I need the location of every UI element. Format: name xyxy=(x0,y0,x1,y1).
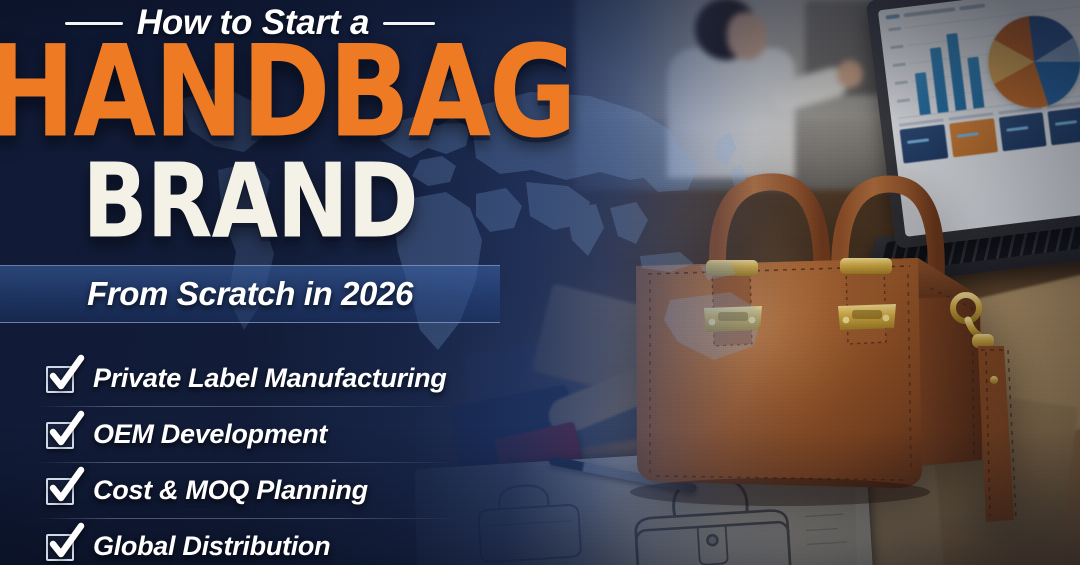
checklist-item: Global Distribution xyxy=(46,518,476,565)
checkbox-checked-icon xyxy=(46,364,76,393)
subtitle-text: From Scratch in 2026 xyxy=(87,275,413,313)
checklist-item-label: Global Distribution xyxy=(93,531,330,562)
checklist-item: OEM Development xyxy=(46,406,476,462)
headline-secondary: BRAND xyxy=(0,157,505,245)
checkbox-checked-icon xyxy=(46,532,76,561)
subtitle-band: From Scratch in 2026 xyxy=(0,265,500,323)
checklist-item-label: OEM Development xyxy=(93,419,327,450)
poster-content: How to Start a HANDBAG BRAND From Scratc… xyxy=(0,0,1080,565)
checklist-item: Private Label Manufacturing xyxy=(46,350,476,406)
checkbox-checked-icon xyxy=(46,420,76,449)
checkbox-checked-icon xyxy=(46,476,76,505)
checklist-item: Cost & MOQ Planning xyxy=(46,462,476,518)
checklist-item-label: Private Label Manufacturing xyxy=(93,363,446,394)
poster: How to Start a HANDBAG BRAND From Scratc… xyxy=(0,0,1080,565)
checklist-item-label: Cost & MOQ Planning xyxy=(93,475,368,506)
checklist: Private Label Manufacturing OEM Developm… xyxy=(46,350,476,565)
headline-primary: HANDBAG xyxy=(0,38,562,147)
